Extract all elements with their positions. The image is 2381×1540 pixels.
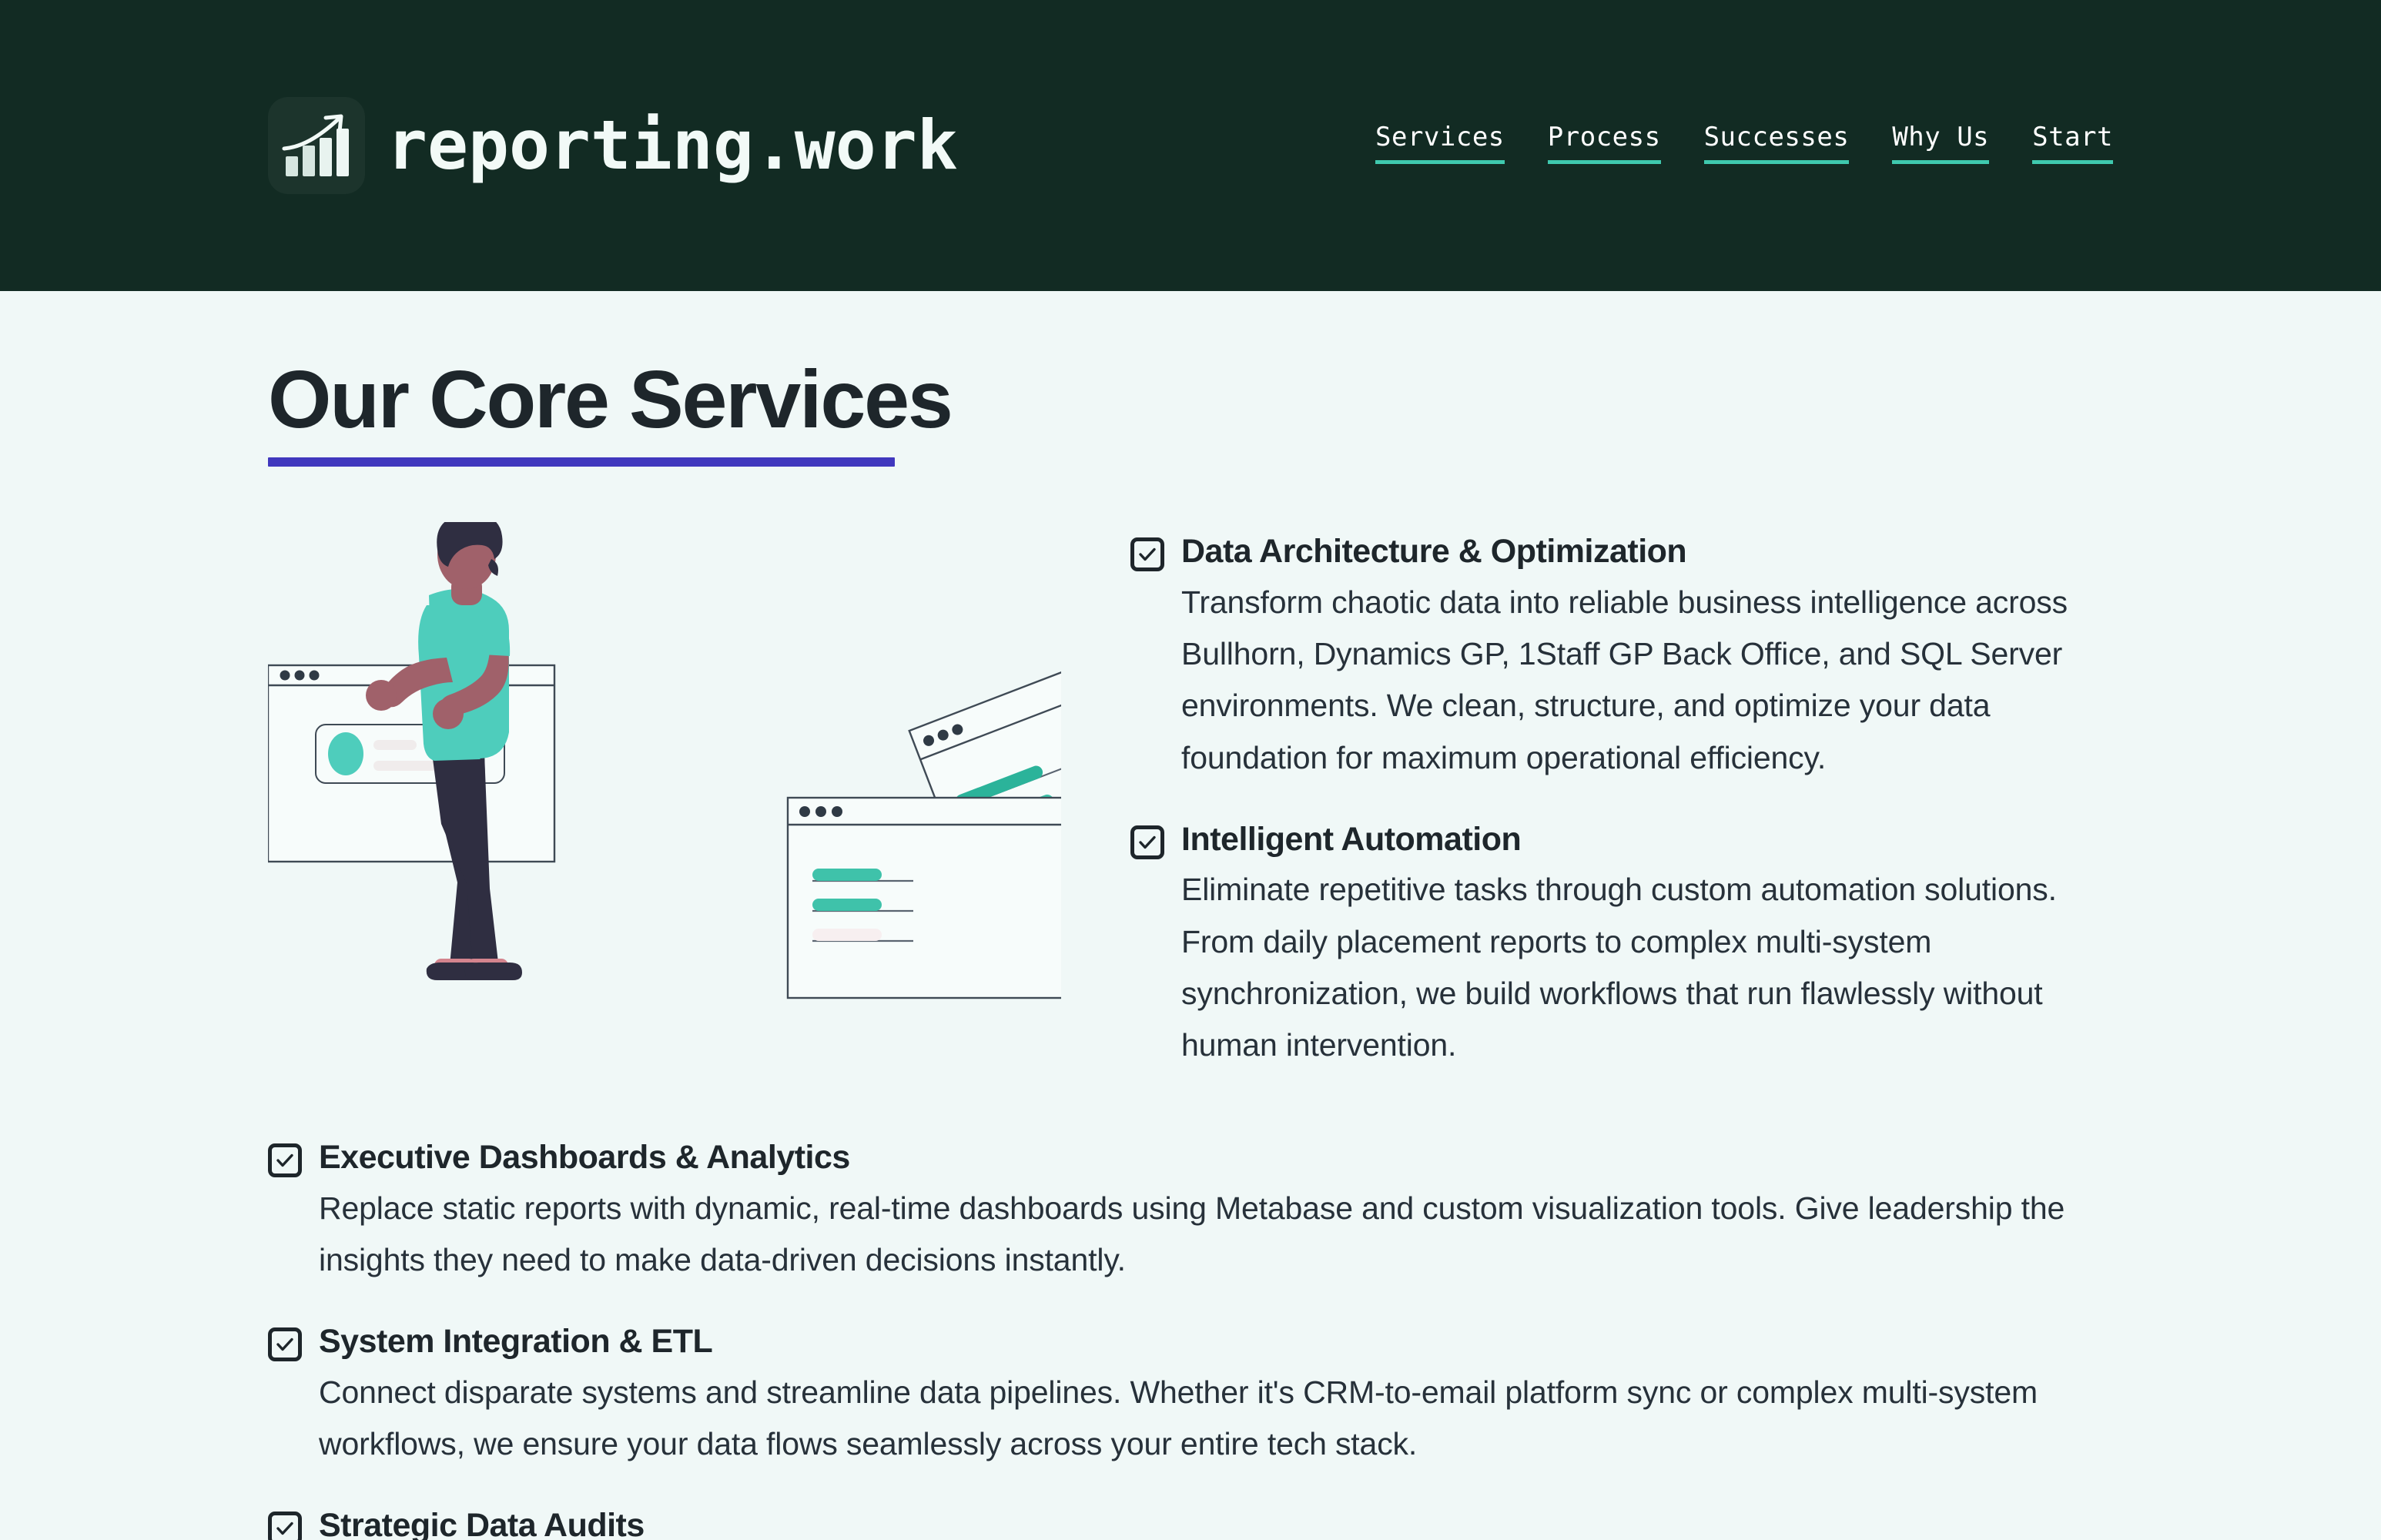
main-nav: Services Process Successes Why Us Start bbox=[1375, 124, 2113, 167]
page-title: Our Core Services bbox=[268, 356, 952, 444]
service-title: Strategic Data Audits bbox=[319, 1505, 2113, 1540]
service-title: Data Architecture & Optimization bbox=[1181, 531, 2113, 571]
service-body: Executive Dashboards & Analytics Replace… bbox=[319, 1137, 2113, 1286]
checkbox-checked-icon bbox=[268, 1327, 302, 1361]
service-item-system-integration[interactable]: System Integration & ETL Connect dispara… bbox=[268, 1321, 2113, 1470]
site-header: reporting.work Services Process Successe… bbox=[0, 0, 2381, 291]
service-title: Intelligent Automation bbox=[1181, 819, 2113, 859]
service-item-intelligent-automation[interactable]: Intelligent Automation Eliminate repetit… bbox=[1130, 819, 2113, 1071]
checkbox-checked-icon bbox=[1130, 825, 1164, 859]
services-column-right: Data Architecture & Optimization Transfo… bbox=[1130, 522, 2113, 1071]
main-content: Our Core Services bbox=[0, 291, 2381, 1540]
service-body: System Integration & ETL Connect dispara… bbox=[319, 1321, 2113, 1470]
services-top-row: Data Architecture & Optimization Transfo… bbox=[268, 522, 2113, 1071]
nav-item-start[interactable]: Start bbox=[2032, 124, 2113, 164]
service-description: Transform chaotic data into reliable bus… bbox=[1181, 577, 2113, 784]
title-underline-rule bbox=[268, 457, 895, 467]
service-item-executive-dashboards[interactable]: Executive Dashboards & Analytics Replace… bbox=[268, 1137, 2113, 1286]
service-item-strategic-data-audits[interactable]: Strategic Data Audits bbox=[268, 1505, 2113, 1540]
services-wide-list: Executive Dashboards & Analytics Replace… bbox=[268, 1137, 2113, 1540]
nav-item-process[interactable]: Process bbox=[1548, 124, 1661, 164]
service-body: Strategic Data Audits bbox=[319, 1505, 2113, 1540]
nav-item-services[interactable]: Services bbox=[1375, 124, 1505, 164]
header-inner: reporting.work Services Process Successe… bbox=[0, 97, 2381, 194]
service-body: Intelligent Automation Eliminate repetit… bbox=[1181, 819, 2113, 1071]
service-title: System Integration & ETL bbox=[319, 1321, 2113, 1361]
checkbox-checked-icon bbox=[268, 1512, 302, 1540]
nav-item-successes[interactable]: Successes bbox=[1704, 124, 1850, 164]
brand-name: reporting.work bbox=[387, 112, 958, 179]
service-description: Replace static reports with dynamic, rea… bbox=[319, 1183, 2113, 1286]
service-description: Connect disparate systems and streamline… bbox=[319, 1367, 2113, 1470]
bar-chart-growth-icon bbox=[268, 97, 365, 194]
nav-item-why-us[interactable]: Why Us bbox=[1892, 124, 1989, 164]
service-body: Data Architecture & Optimization Transfo… bbox=[1181, 531, 2113, 783]
person-organizing-browser-windows-illustration bbox=[268, 522, 1061, 1015]
service-title: Executive Dashboards & Analytics bbox=[319, 1137, 2113, 1177]
service-item-data-architecture[interactable]: Data Architecture & Optimization Transfo… bbox=[1130, 531, 2113, 783]
brand-logo-link[interactable]: reporting.work bbox=[268, 97, 958, 194]
service-description: Eliminate repetitive tasks through custo… bbox=[1181, 864, 2113, 1071]
checkbox-checked-icon bbox=[1130, 537, 1164, 571]
section-heading-wrap: Our Core Services bbox=[268, 291, 2113, 467]
checkbox-checked-icon bbox=[268, 1143, 302, 1177]
